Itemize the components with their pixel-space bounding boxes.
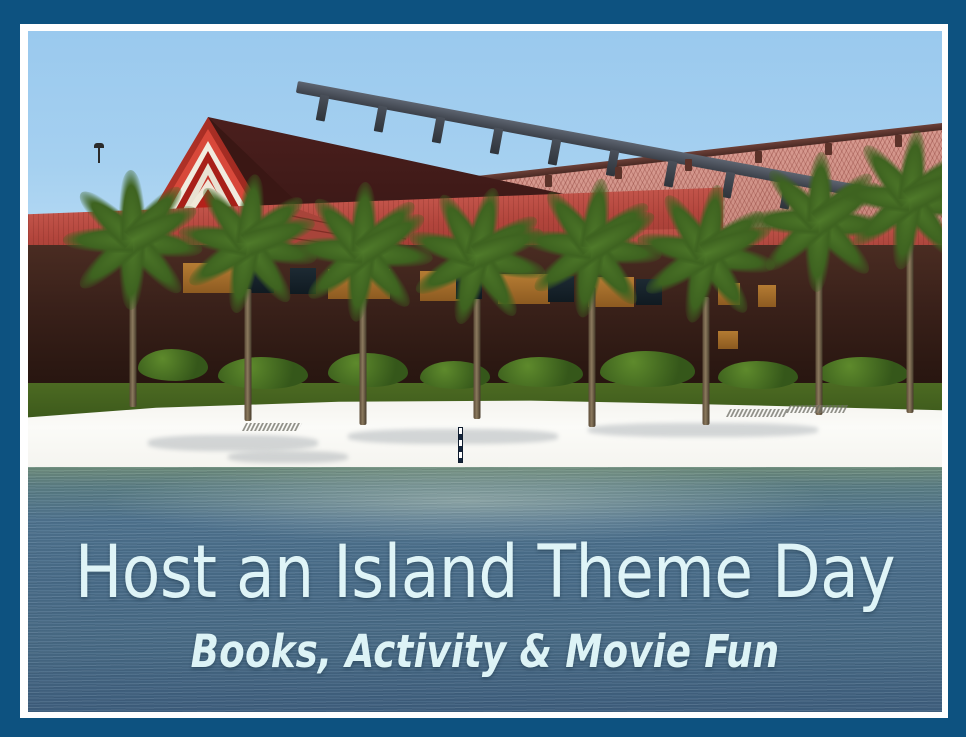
beach-shadow xyxy=(348,429,558,444)
water-depth-marker xyxy=(458,427,463,463)
far-roof-post xyxy=(545,175,552,187)
beach-shadow xyxy=(148,435,318,451)
poster-frame: Host an Island Theme Day Books, Activity… xyxy=(0,0,966,737)
beach-lounger xyxy=(786,405,848,413)
far-roof-post xyxy=(755,151,762,163)
beach-lounger xyxy=(242,423,302,431)
far-roof-post xyxy=(825,143,832,155)
water-ripples xyxy=(28,467,942,712)
palm-tree xyxy=(840,187,942,413)
palm-tree xyxy=(296,239,430,425)
far-roof-post xyxy=(615,167,622,179)
beach-shadow xyxy=(228,451,348,463)
beach-lounger xyxy=(726,409,790,417)
scene-photo: Host an Island Theme Day Books, Activity… xyxy=(28,31,942,712)
roof-lamp xyxy=(98,147,100,163)
far-roof-post xyxy=(895,135,902,147)
far-roof-post xyxy=(685,159,692,171)
